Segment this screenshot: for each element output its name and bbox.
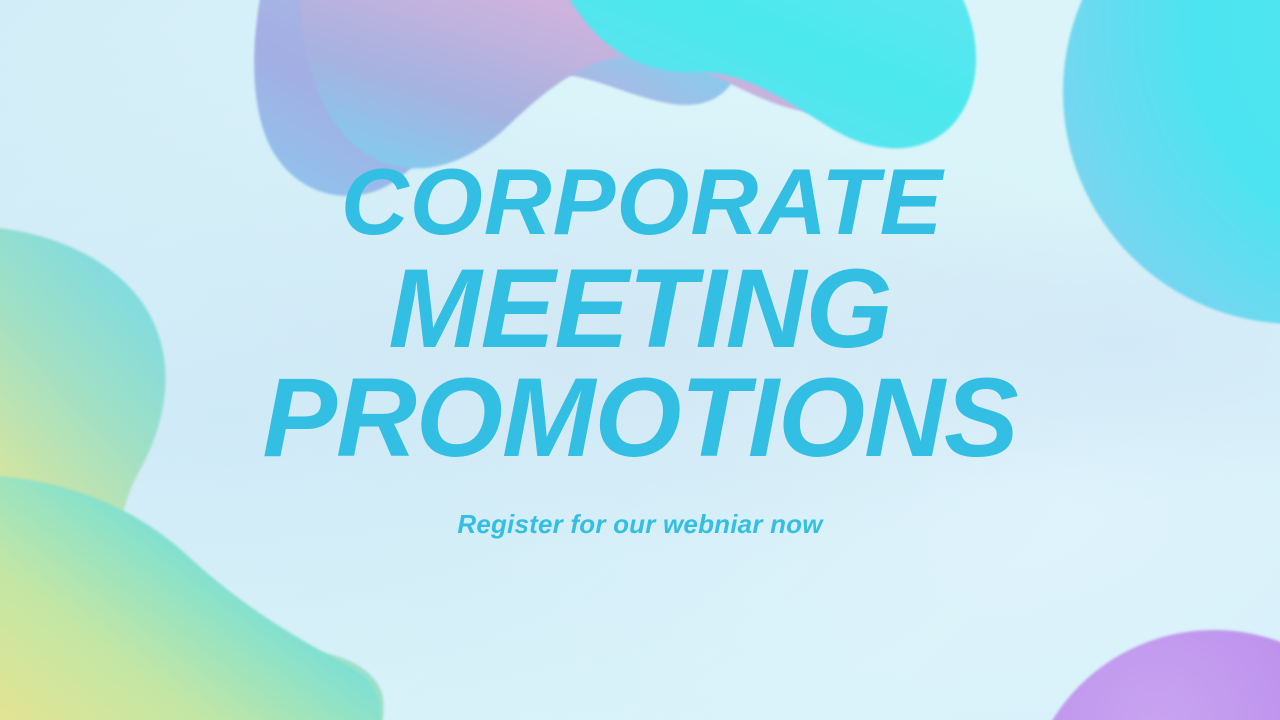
promo-poster: CORPORATE MEETING PROMOTIONS Register fo…: [0, 0, 1280, 720]
headline-line-2: MEETING PROMOTIONS: [0, 255, 1280, 472]
text-stack: CORPORATE MEETING PROMOTIONS Register fo…: [0, 156, 1280, 539]
poster-content: CORPORATE MEETING PROMOTIONS Register fo…: [0, 0, 1280, 720]
subtitle: Register for our webniar now: [0, 509, 1280, 540]
headline-line-1: CORPORATE: [2, 156, 1280, 247]
page-title: CORPORATE MEETING PROMOTIONS: [0, 156, 1280, 472]
